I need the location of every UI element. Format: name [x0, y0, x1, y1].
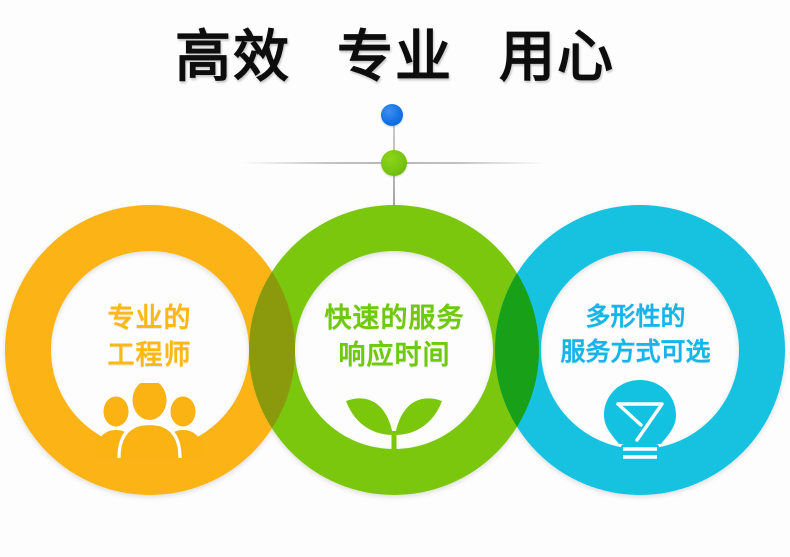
- circle-label-green: 快速的服务 响应时间: [292, 300, 497, 375]
- people-group-icon: [93, 383, 206, 463]
- overlap-green-cyan: [0, 0, 790, 557]
- circle-label-cyan-line-1: 多形性的: [533, 300, 738, 335]
- lightbulb-icon: [597, 378, 683, 471]
- circle-label-cyan: 多形性的 服务方式可选: [533, 300, 738, 369]
- circle-label-green-line-1: 快速的服务: [292, 300, 497, 337]
- circle-label-orange-line-1: 专业的: [47, 300, 252, 337]
- venn-rings: [0, 0, 790, 557]
- circle-label-orange: 专业的 工程师: [47, 300, 252, 375]
- circle-label-orange-line-2: 工程师: [47, 337, 252, 374]
- infographic-canvas: 高效专业用心: [0, 0, 790, 557]
- circle-label-cyan-line-2: 服务方式可选: [533, 335, 738, 370]
- sprout-leaf-icon: [330, 381, 458, 466]
- circle-label-green-line-2: 响应时间: [292, 337, 497, 374]
